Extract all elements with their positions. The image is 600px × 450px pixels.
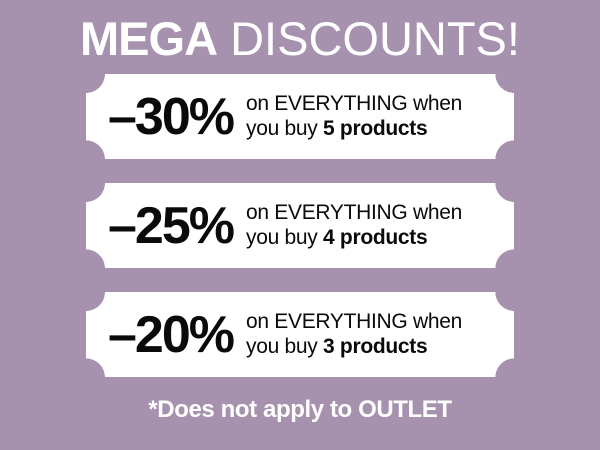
- offer-terms-line2: you buy 4 products: [246, 226, 462, 251]
- offer-terms: on EVERYTHING when you buy 5 products: [233, 92, 462, 142]
- discount-amount: –20%: [86, 309, 233, 361]
- offer-terms-line1: on EVERYTHING when: [246, 92, 462, 117]
- offer-product-count: 4 products: [323, 226, 427, 249]
- offer-terms-line2: you buy 5 products: [246, 117, 462, 142]
- offer-terms: on EVERYTHING when you buy 3 products: [233, 310, 462, 360]
- offer-product-count: 3 products: [323, 335, 427, 358]
- offer-ticket[interactable]: –30% on EVERYTHING when you buy 5 produc…: [86, 74, 514, 159]
- offer-ticket[interactable]: –20% on EVERYTHING when you buy 3 produc…: [86, 292, 514, 377]
- offer-terms-prefix: you buy: [246, 335, 323, 358]
- offer-ticket[interactable]: –25% on EVERYTHING when you buy 4 produc…: [86, 183, 514, 268]
- offer-terms-line2: you buy 3 products: [246, 335, 462, 360]
- offer-terms-prefix: you buy: [246, 117, 323, 140]
- title-mega-word: MEGA: [80, 12, 217, 65]
- offer-ticket-list: –30% on EVERYTHING when you buy 5 produc…: [86, 74, 514, 377]
- title-discounts-word: DISCOUNTS!: [217, 12, 520, 65]
- page-title: MEGA DISCOUNTS!: [80, 14, 520, 63]
- discount-amount: –25%: [86, 200, 233, 252]
- offer-terms-line1: on EVERYTHING when: [246, 310, 462, 335]
- offer-terms: on EVERYTHING when you buy 4 products: [233, 201, 462, 251]
- promo-banner: MEGA DISCOUNTS! –30% on EVERYTHING when …: [0, 0, 600, 450]
- disclaimer-text: *Does not apply to OUTLET: [148, 396, 451, 424]
- offer-product-count: 5 products: [323, 117, 427, 140]
- offer-terms-prefix: you buy: [246, 226, 323, 249]
- discount-amount: –30%: [86, 91, 233, 143]
- offer-terms-line1: on EVERYTHING when: [246, 201, 462, 226]
